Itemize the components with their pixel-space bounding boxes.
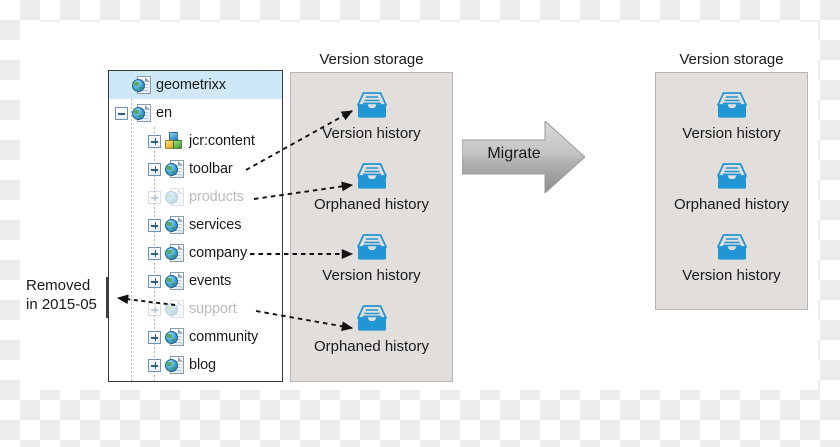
- content-tree-panel: geometrixxenjcr:contenttoolbarproductsse…: [108, 70, 283, 382]
- tree-node-label: support: [189, 301, 237, 317]
- storage-item: Version history: [656, 233, 807, 284]
- page-globe-icon: [165, 244, 184, 263]
- tree-node-label: en: [156, 105, 172, 121]
- file-tray-icon: [355, 162, 389, 190]
- tree-expand-icon[interactable]: [148, 331, 161, 344]
- page-globe-icon: [165, 160, 184, 179]
- tree-node-label: toolbar: [189, 161, 233, 177]
- file-tray-icon: [355, 91, 389, 119]
- storage-item: Version history: [656, 91, 807, 142]
- tree-expand-icon[interactable]: [148, 359, 161, 372]
- tree-node-toolbar[interactable]: toolbar: [109, 155, 282, 183]
- migrate-arrow-label: Migrate: [462, 145, 566, 163]
- tree-node-jcr-content[interactable]: jcr:content: [109, 127, 282, 155]
- tree-expand-icon[interactable]: [148, 191, 161, 204]
- tree-node-products[interactable]: products: [109, 183, 282, 211]
- tree-expand-icon[interactable]: [148, 303, 161, 316]
- page-globe-icon: [165, 188, 184, 207]
- storage-item-label: Version history: [291, 267, 452, 284]
- storage-item-label: Version history: [291, 125, 452, 142]
- tree-node-support[interactable]: support: [109, 295, 282, 323]
- tree-node-label: company: [189, 245, 247, 261]
- version-storage-after-panel: Version historyOrphaned historyVersion h…: [655, 72, 808, 310]
- storage-item: Orphaned history: [291, 162, 452, 213]
- storage-item: Version history: [291, 233, 452, 284]
- tree-node-company[interactable]: company: [109, 239, 282, 267]
- page-globe-icon: [165, 356, 184, 375]
- storage-item-label: Version history: [656, 267, 807, 284]
- cubes-icon: [165, 132, 184, 151]
- page-globe-icon: [165, 300, 184, 319]
- tree-node-label: products: [189, 189, 244, 205]
- tree-node-label: services: [189, 217, 241, 233]
- tree-node-en[interactable]: en: [109, 99, 282, 127]
- tree-node-community[interactable]: community: [109, 323, 282, 351]
- tree-node-label: blog: [189, 357, 216, 373]
- tree-node-label: events: [189, 273, 231, 289]
- page-globe-icon: [165, 216, 184, 235]
- diagram-canvas: geometrixxenjcr:contenttoolbarproductsse…: [0, 0, 840, 447]
- tree-node-label: jcr:content: [189, 133, 255, 149]
- file-tray-icon: [355, 304, 389, 332]
- file-tray-icon: [715, 162, 749, 190]
- file-tray-icon: [355, 233, 389, 261]
- tree-expand-icon[interactable]: [148, 135, 161, 148]
- removed-note: Removed in 2015-05: [26, 276, 118, 314]
- tree-expand-icon[interactable]: [148, 275, 161, 288]
- file-tray-icon: [715, 91, 749, 119]
- tree-expand-icon[interactable]: [148, 163, 161, 176]
- page-globe-icon: [165, 272, 184, 291]
- storage-item-label: Version history: [656, 125, 807, 142]
- tree-expand-icon[interactable]: [148, 219, 161, 232]
- file-tray-icon: [715, 233, 749, 261]
- storage-item-label: Orphaned history: [291, 338, 452, 355]
- page-globe-icon: [132, 104, 151, 123]
- tree-expand-icon[interactable]: [148, 247, 161, 260]
- tree-node-label: community: [189, 329, 258, 345]
- tree-node-geometrixx[interactable]: geometrixx: [109, 71, 282, 99]
- storage-item: Orphaned history: [291, 304, 452, 355]
- tree-node-label: geometrixx: [156, 77, 226, 93]
- tree-node-services[interactable]: services: [109, 211, 282, 239]
- removed-note-line1: Removed: [26, 276, 118, 295]
- page-globe-icon: [132, 76, 151, 95]
- tree-collapse-icon[interactable]: [115, 107, 128, 120]
- storage-after-title: Version storage: [650, 51, 813, 68]
- storage-before-title: Version storage: [290, 51, 453, 68]
- storage-item-label: Orphaned history: [291, 196, 452, 213]
- storage-item: Orphaned history: [656, 162, 807, 213]
- storage-item: Version history: [291, 91, 452, 142]
- version-storage-before-panel: Version historyOrphaned historyVersion h…: [290, 72, 453, 382]
- page-globe-icon: [165, 328, 184, 347]
- removed-note-line2: in 2015-05: [26, 295, 118, 314]
- tree-row-list: geometrixxenjcr:contenttoolbarproductsse…: [109, 71, 282, 379]
- tree-node-blog[interactable]: blog: [109, 351, 282, 379]
- migrate-arrow: Migrate: [462, 121, 585, 193]
- storage-item-label: Orphaned history: [656, 196, 807, 213]
- tree-node-events[interactable]: events: [109, 267, 282, 295]
